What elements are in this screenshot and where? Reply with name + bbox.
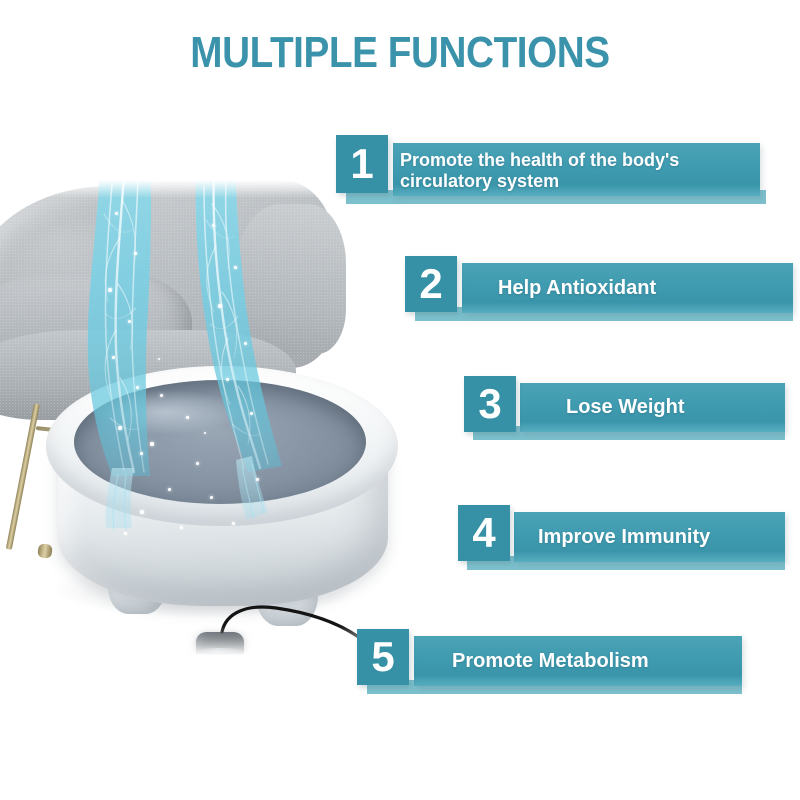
- function-label-4: Improve Immunity: [538, 526, 778, 549]
- function-number-4: 4: [458, 505, 510, 561]
- infographic-canvas: MULTIPLE FUNCTIONS: [0, 0, 800, 800]
- function-number-3: 3: [464, 376, 516, 432]
- function-label-2: Help Antioxidant: [498, 277, 788, 300]
- function-label-5: Promote Metabolism: [452, 650, 736, 673]
- page-title: MULTIPLE FUNCTIONS: [48, 28, 752, 78]
- function-number-5: 5: [357, 629, 409, 685]
- function-label-1: Promote the health of the body's circula…: [400, 150, 752, 191]
- power-cord: [0, 180, 440, 660]
- photo-fade-right: [394, 180, 440, 660]
- function-label-3: Lose Weight: [566, 396, 782, 419]
- function-number-1: 1: [336, 135, 388, 193]
- function-number-2: 2: [405, 256, 457, 312]
- product-photo: IONIC: [0, 180, 440, 660]
